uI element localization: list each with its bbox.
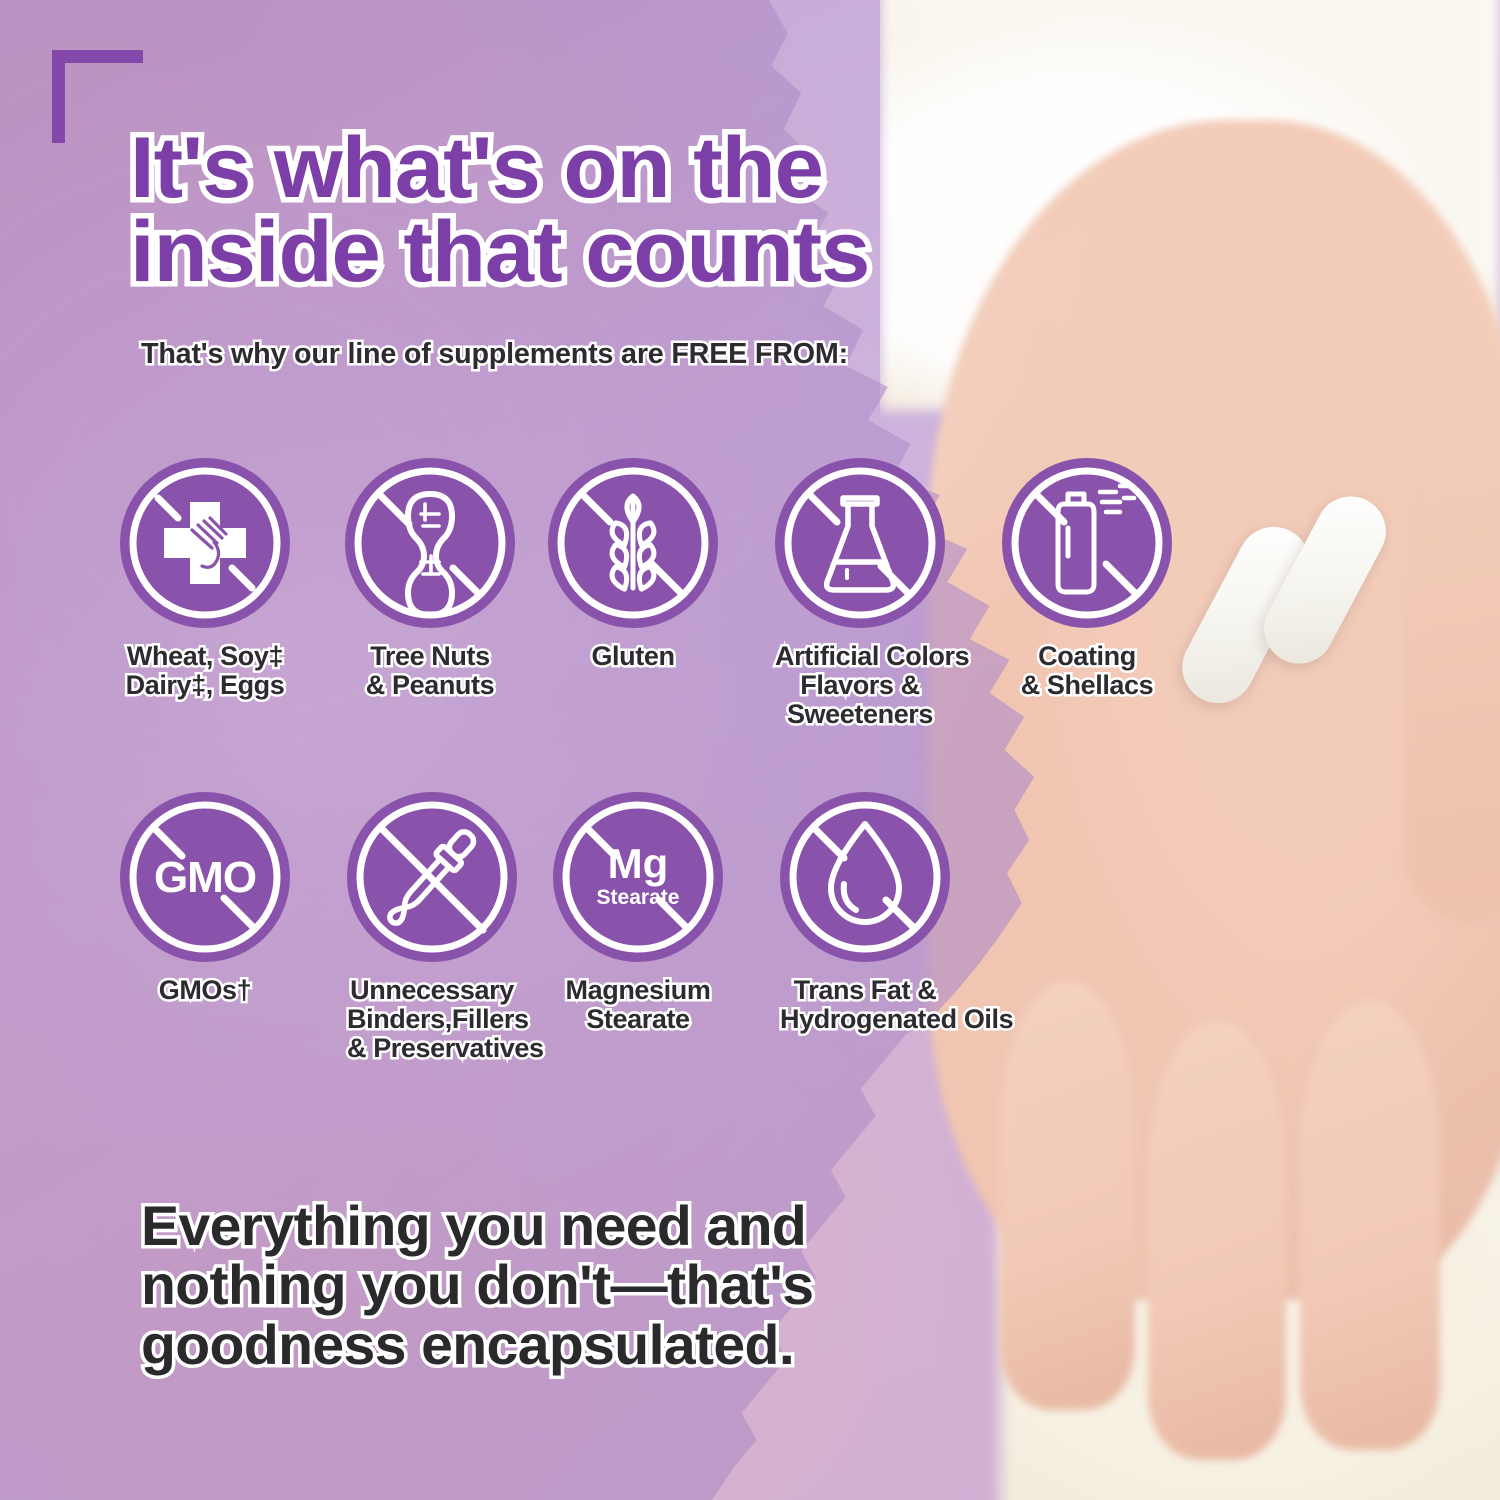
closing-tagline: Everything you need and nothing you don'… [141, 1196, 957, 1374]
mg-stearate-text-icon: Mg Stearate [553, 792, 723, 962]
badge-trans-fat: Trans Fat & Hydrogenated Oils [780, 792, 950, 1034]
badge-coating-shellacs: Coating & Shellacs [1002, 458, 1172, 700]
tagline-line-1: Everything you need and [141, 1196, 957, 1255]
badge-artificial-colors: Artificial Colors Flavors & Sweeteners [775, 458, 945, 729]
cross-hand-icon [120, 458, 290, 628]
svg-text:GMO: GMO [154, 853, 256, 902]
badge-label: Wheat, Soy‡ Dairy‡, Eggs [120, 642, 290, 700]
svg-text:Mg: Mg [608, 840, 669, 887]
tagline-line-2: nothing you don't—that's [141, 1255, 957, 1314]
badge-label: GMOs† [120, 976, 290, 1005]
badge-gmos: GMO GMOs† [120, 792, 290, 1005]
subheading: That's why our line of supplements are F… [141, 338, 848, 371]
flask-icon [775, 458, 945, 628]
badge-wheat-soy-dairy-eggs: Wheat, Soy‡ Dairy‡, Eggs [120, 458, 290, 700]
badge-label: Magnesium Stearate [553, 976, 723, 1034]
badge-label: Gluten [548, 642, 718, 671]
page-title: It's what's on the inside that counts [130, 126, 1078, 295]
badge-gluten: Gluten [548, 458, 718, 671]
spray-can-icon [1002, 458, 1172, 628]
peanut-icon [345, 458, 515, 628]
dropper-icon [347, 792, 517, 962]
badge-label: Tree Nuts & Peanuts [345, 642, 515, 700]
wheat-stalk-icon [548, 458, 718, 628]
promo-image: It's what's on the inside that counts Th… [0, 0, 1500, 1500]
headline-line-2: inside that counts [130, 210, 1078, 294]
badge-label: Coating & Shellacs [1002, 642, 1172, 700]
tagline-line-3: goodness encapsulated. [141, 1315, 957, 1374]
headline-line-1: It's what's on the [130, 126, 1078, 210]
badge-label: Trans Fat & Hydrogenated Oils [780, 976, 950, 1034]
badge-label: Unnecessary Binders,Fillers & Preservati… [347, 976, 517, 1063]
badge-unnecessary-binders: Unnecessary Binders,Fillers & Preservati… [347, 792, 517, 1063]
badge-tree-nuts-peanuts: Tree Nuts & Peanuts [345, 458, 515, 700]
water-drop-icon [780, 792, 950, 962]
svg-text:Stearate: Stearate [597, 886, 680, 909]
badge-magnesium-stearate: Mg Stearate Magnesium Stearate [553, 792, 723, 1034]
gmo-text-icon: GMO [120, 792, 290, 962]
badge-label: Artificial Colors Flavors & Sweeteners [775, 642, 945, 729]
